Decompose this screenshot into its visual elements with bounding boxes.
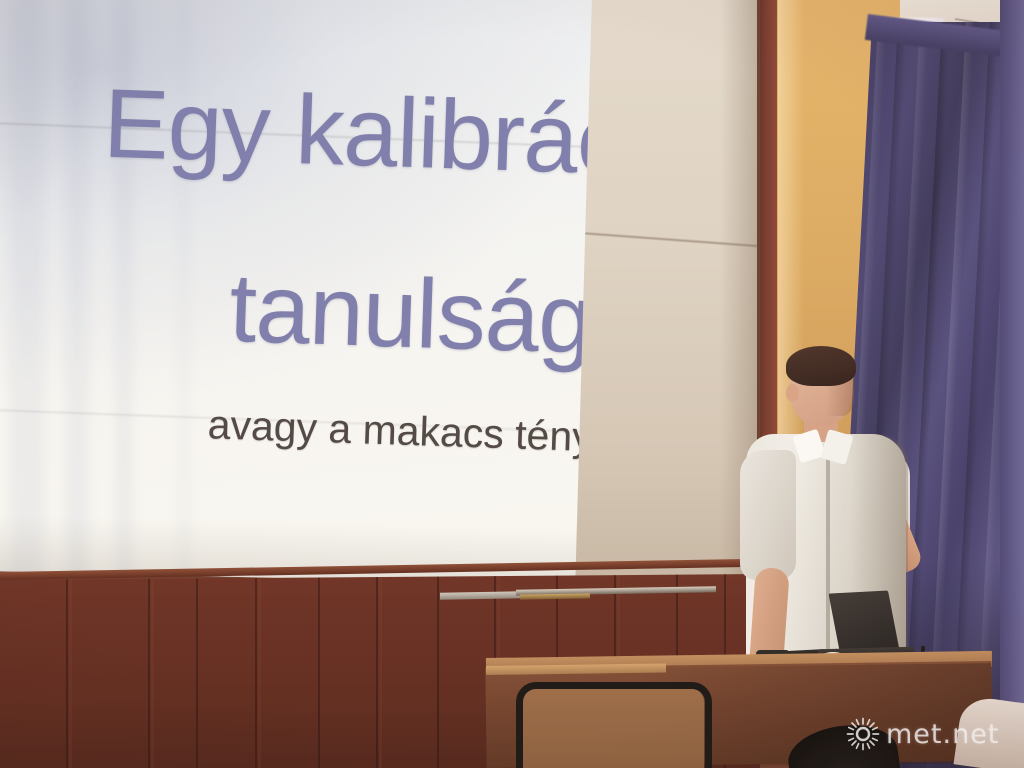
watermark: met.net — [846, 712, 1018, 756]
slide-content: Egy kalibráció tanulságai avagy a makacs… — [0, 0, 600, 612]
curtain-right-edge — [1000, 0, 1024, 768]
presenter-left-sleeve — [740, 450, 796, 580]
screen-tray-rail — [440, 591, 520, 599]
watermark-text: met.net — [886, 719, 999, 750]
chair-frame — [516, 682, 712, 768]
photo-scene: Egy kalibráció tanulságai avagy a makacs… — [0, 0, 1024, 768]
projection-screen: Egy kalibráció tanulságai avagy a makacs… — [0, 0, 592, 594]
sun-icon — [846, 717, 880, 751]
presenter-hair — [786, 346, 856, 386]
slide-subtitle: avagy a makacs tények — [207, 401, 637, 462]
presenter-shirt-placket — [826, 454, 830, 674]
presenter-ear — [786, 384, 799, 402]
